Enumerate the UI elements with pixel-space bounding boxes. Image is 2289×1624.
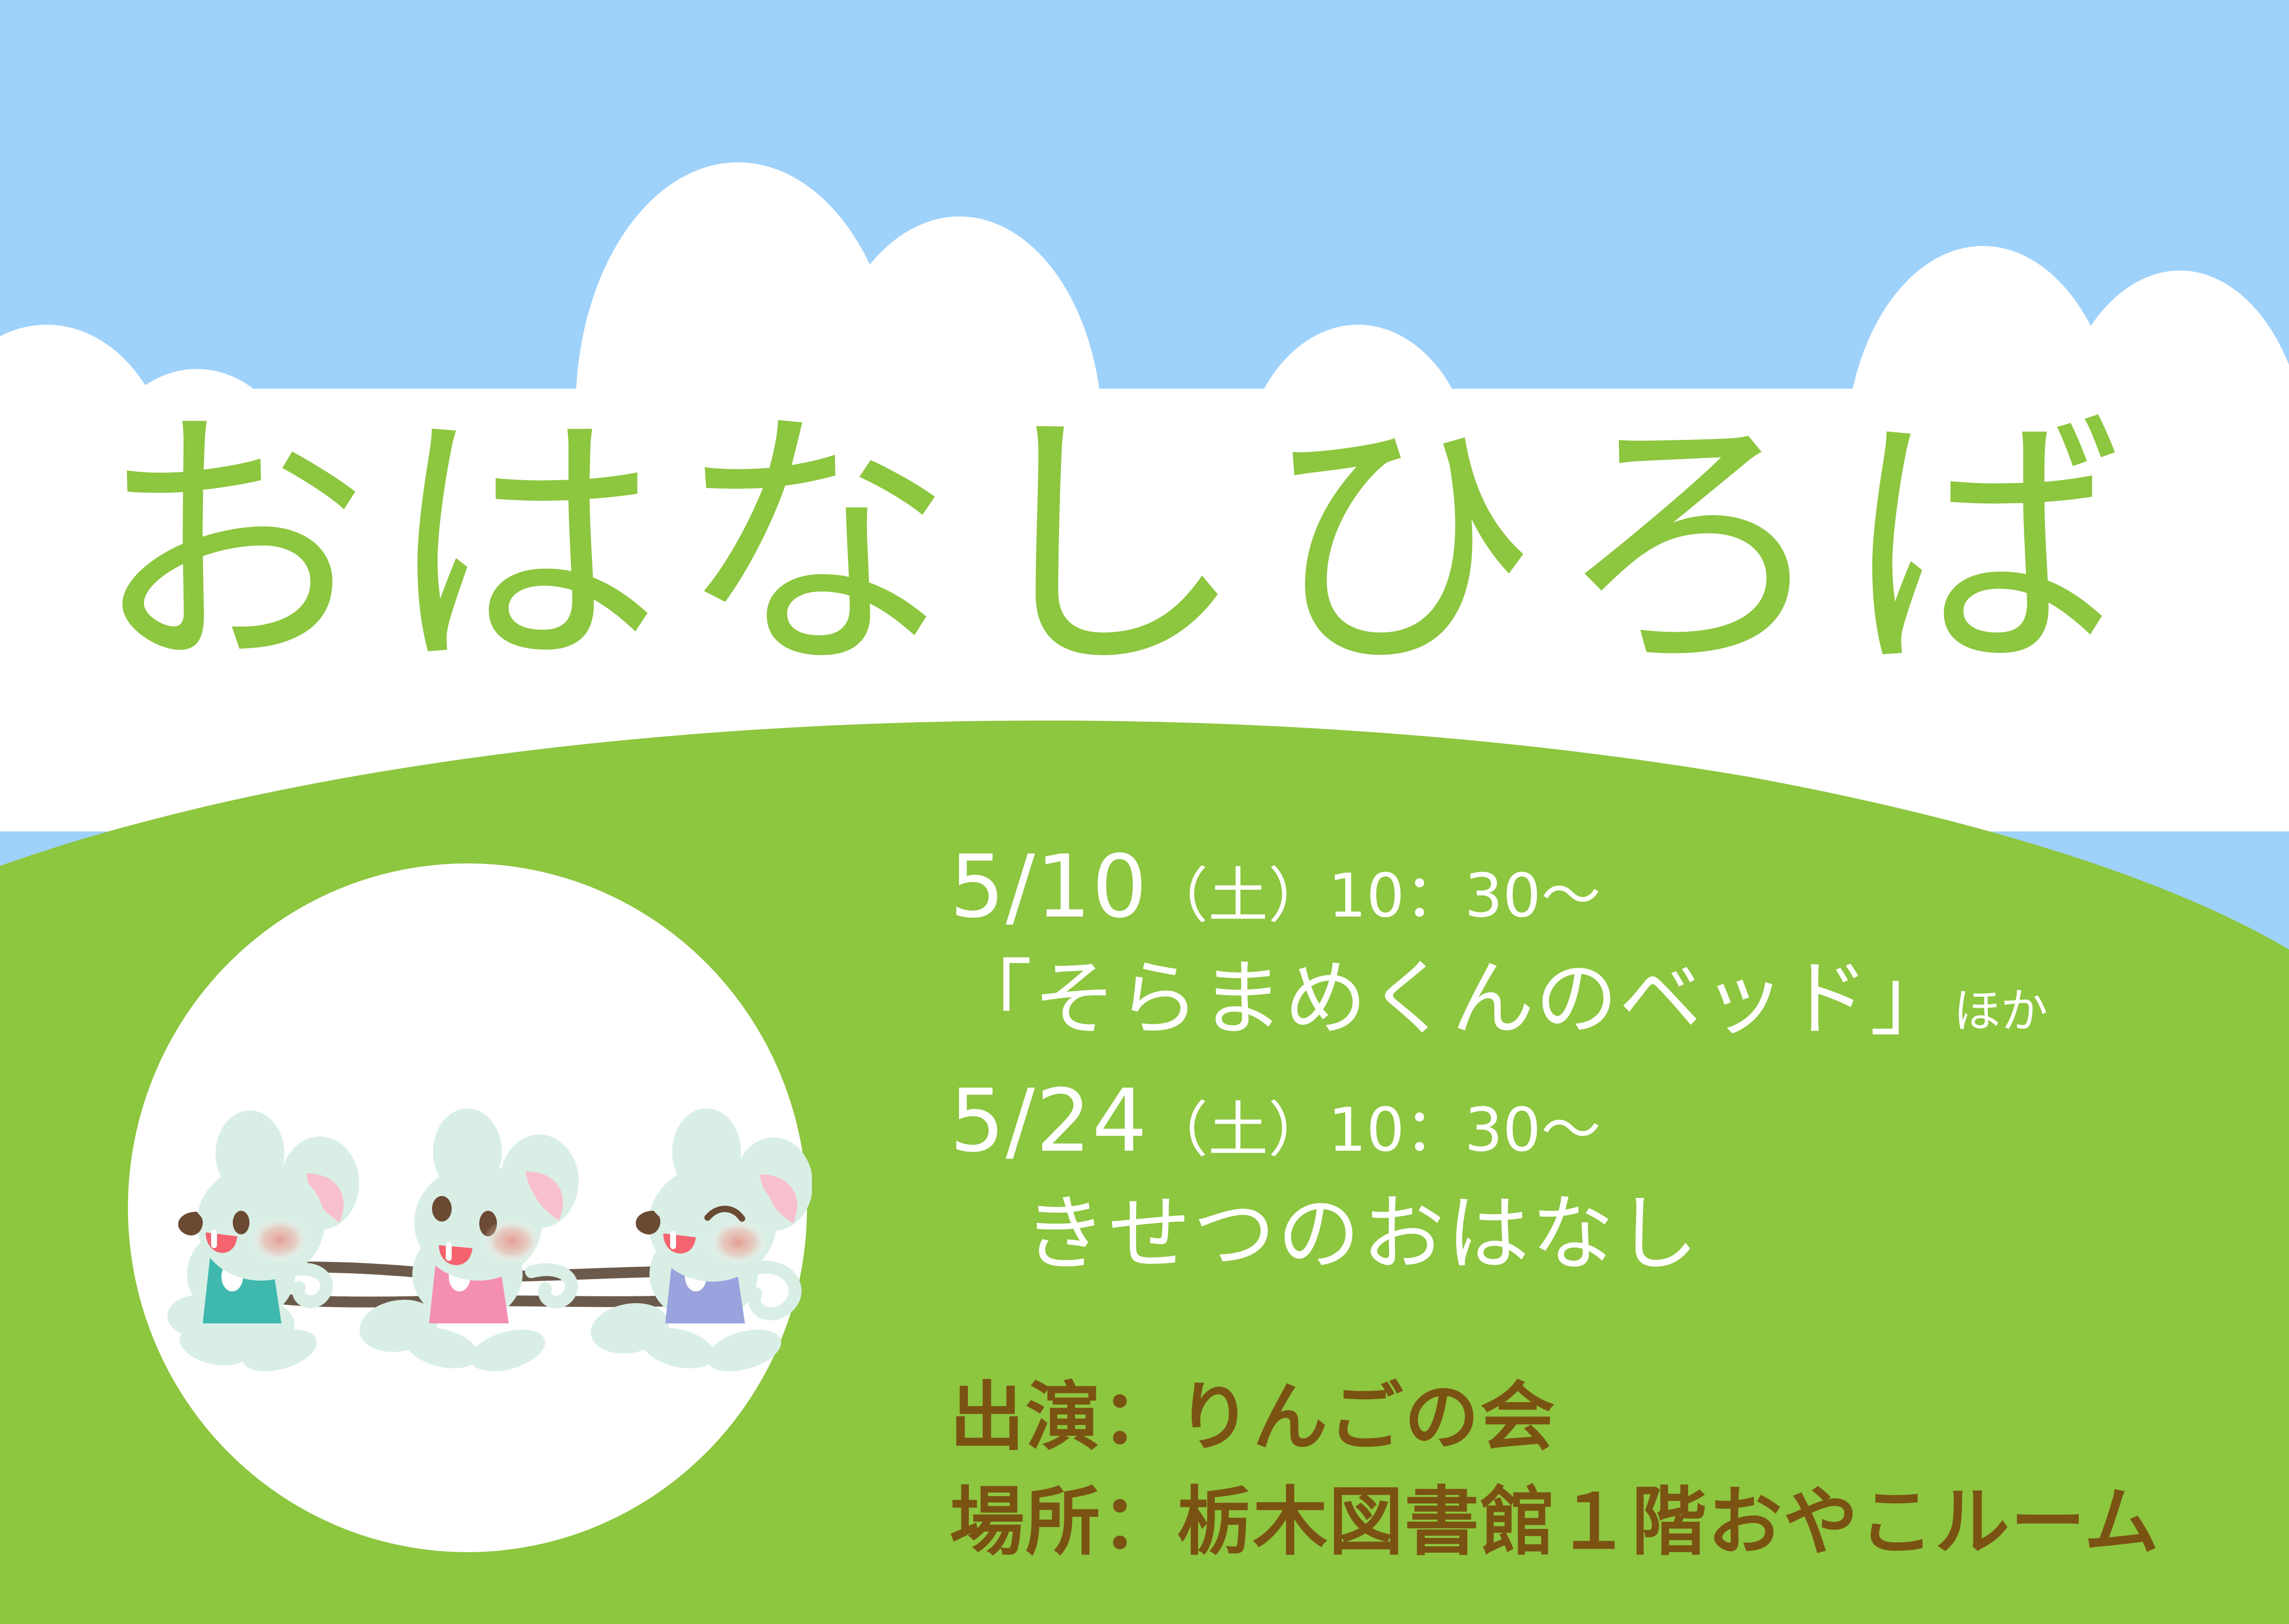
poster-root: おはなしひろば [0, 0, 2289, 1624]
event-2-program: きせつのおはなし [950, 1180, 2249, 1287]
event-2-datetime: 5/24（土）10：30〜 [950, 1066, 2249, 1176]
location-line: 場所：栃木図書館１階おやこルーム [950, 1470, 2249, 1575]
event-2-time: 10：30〜 [1328, 1095, 1601, 1165]
footer-details: 出演：りんごの会 場所：栃木図書館１階おやこルーム [950, 1365, 2249, 1575]
event-1-program-line: 「そらまめくんのベッド」ほか [950, 945, 2249, 1052]
event-2-date: 5/24 [950, 1071, 1148, 1171]
mouse-illustration-circle [123, 858, 812, 1557]
page-title: おはなしひろば [93, 408, 2209, 684]
event-1-weekday: （土） [1148, 861, 1328, 931]
event-1-program-suffix: ほか [1953, 983, 2048, 1039]
event-info-block: 5/10（土）10：30〜 「そらまめくんのベッド」ほか 5/24（土）10：3… [950, 831, 2249, 1575]
event-1-time: 10：30〜 [1328, 861, 1601, 931]
event-1-date: 5/10 [950, 836, 1148, 937]
event-1-datetime: 5/10（土）10：30〜 [950, 831, 2249, 942]
event-1-program: 「そらまめくんのベッド」 [950, 950, 1953, 1047]
performer-line: 出演：りんごの会 [950, 1365, 2249, 1470]
three-mice-illustration [123, 858, 812, 1557]
event-2-weekday: （土） [1148, 1095, 1328, 1165]
